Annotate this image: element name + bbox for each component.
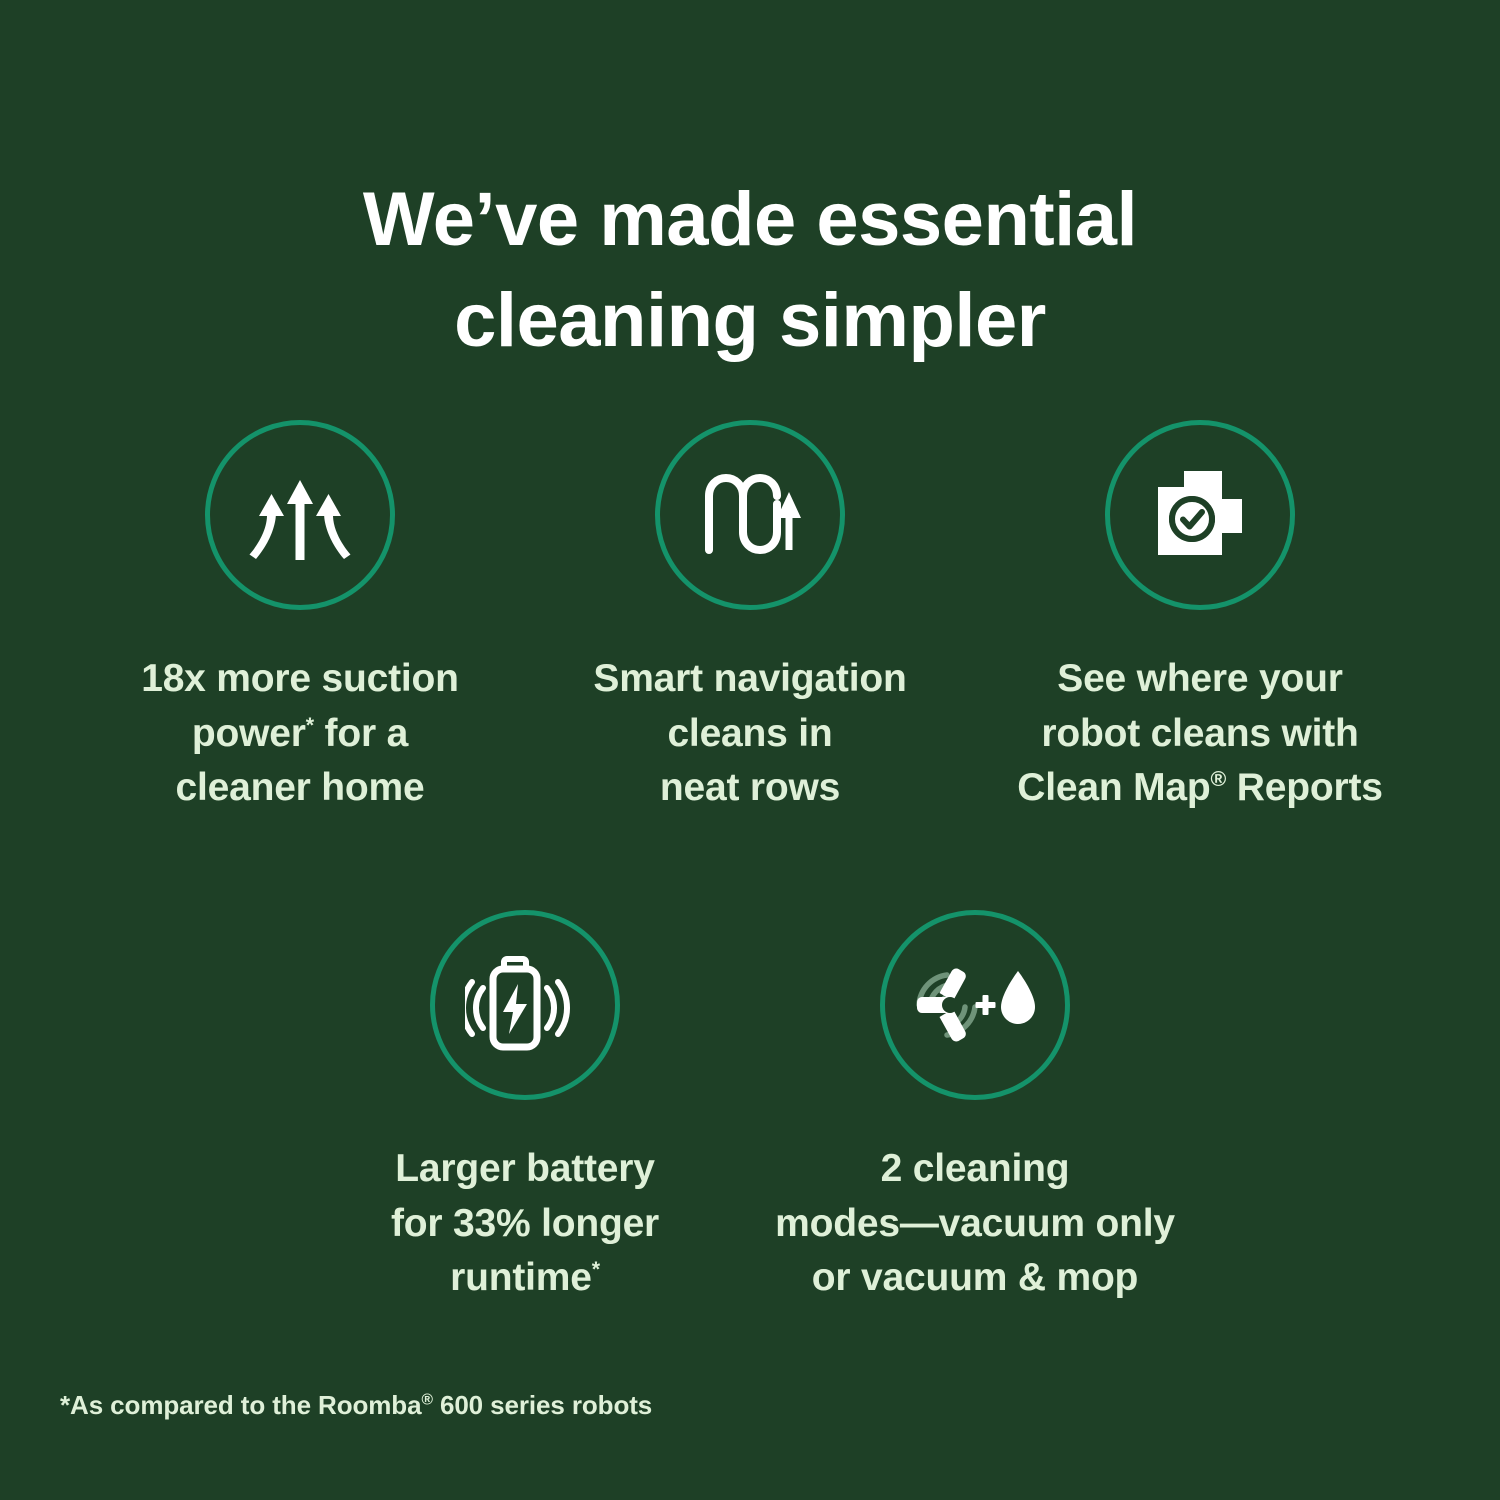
caption-line-2: robot cleans with — [985, 707, 1415, 762]
caption-line-3-pre: Clean Map — [1017, 766, 1210, 809]
caption-asterisk: * — [306, 713, 314, 737]
caption-line-1: Larger battery — [310, 1142, 740, 1197]
caption-line-1: 18x more suction — [85, 652, 515, 707]
floorplan-check-map-icon — [1144, 459, 1256, 571]
page-title-line-1: We’ve made essential — [150, 169, 1350, 270]
feature-icon-circle — [1105, 420, 1295, 610]
feature-battery: Larger battery for 33% longer runtime* — [300, 910, 750, 1306]
caption-line-2: cleans in — [535, 707, 965, 762]
suction-arrows-icon — [241, 456, 359, 574]
caption-line-1: Smart navigation — [535, 652, 965, 707]
footnote-disclaimer: *As compared to the Roomba® 600 series r… — [60, 1390, 652, 1421]
plus-icon — [976, 995, 996, 1015]
feature-icon-circle — [880, 910, 1070, 1100]
caption-line-1: 2 cleaning — [760, 1142, 1190, 1197]
caption-line-3: Clean Map® Reports — [985, 761, 1415, 816]
caption-line-2-pre: power — [192, 712, 306, 755]
feature-row-top: 18x more suction power* for a cleaner ho… — [0, 420, 1500, 816]
feature-icon-circle — [655, 420, 845, 610]
caption-line-3: or vacuum & mop — [760, 1251, 1190, 1306]
feature-icon-circle — [205, 420, 395, 610]
registered-trademark-symbol: ® — [1211, 767, 1227, 791]
feature-cleaning-modes: 2 cleaning modes—vacuum only or vacuum &… — [750, 910, 1200, 1306]
feature-caption: 2 cleaning modes—vacuum only or vacuum &… — [760, 1142, 1190, 1306]
battery-charging-icon — [465, 946, 585, 1064]
feature-caption: 18x more suction power* for a cleaner ho… — [85, 652, 515, 816]
caption-asterisk: * — [592, 1257, 600, 1281]
promo-banner: We’ve made essential cleaning simpler 18… — [0, 0, 1500, 1500]
caption-line-3: cleaner home — [85, 761, 515, 816]
caption-line-3: runtime* — [310, 1251, 740, 1306]
caption-line-3-post: Reports — [1226, 766, 1383, 809]
caption-line-2-post: for a — [314, 712, 408, 755]
caption-line-3-pre: runtime — [450, 1256, 592, 1299]
feature-caption: See where your robot cleans with Clean M… — [985, 652, 1415, 816]
caption-line-1: See where your — [985, 652, 1415, 707]
serpentine-navigation-icon — [691, 456, 809, 574]
vacuum-plus-mop-icon — [909, 957, 1041, 1053]
caption-line-2: for 33% longer — [310, 1197, 740, 1252]
footnote-post: 600 series robots — [433, 1390, 652, 1420]
caption-line-2: power* for a — [85, 707, 515, 762]
feature-row-bottom: Larger battery for 33% longer runtime* — [0, 910, 1500, 1306]
feature-clean-map: See where your robot cleans with Clean M… — [975, 420, 1425, 816]
feature-navigation: Smart navigation cleans in neat rows — [525, 420, 975, 816]
page-title-line-2: cleaning simpler — [150, 270, 1350, 371]
footnote-pre: *As compared to the Roomba — [60, 1390, 421, 1420]
caption-line-2: modes—vacuum only — [760, 1197, 1190, 1252]
feature-suction: 18x more suction power* for a cleaner ho… — [75, 420, 525, 816]
registered-trademark-symbol: ® — [421, 1391, 432, 1408]
feature-caption: Smart navigation cleans in neat rows — [535, 652, 965, 816]
caption-line-3: neat rows — [535, 761, 965, 816]
feature-caption: Larger battery for 33% longer runtime* — [310, 1142, 740, 1306]
feature-icon-circle — [430, 910, 620, 1100]
page-title: We’ve made essential cleaning simpler — [0, 169, 1500, 371]
